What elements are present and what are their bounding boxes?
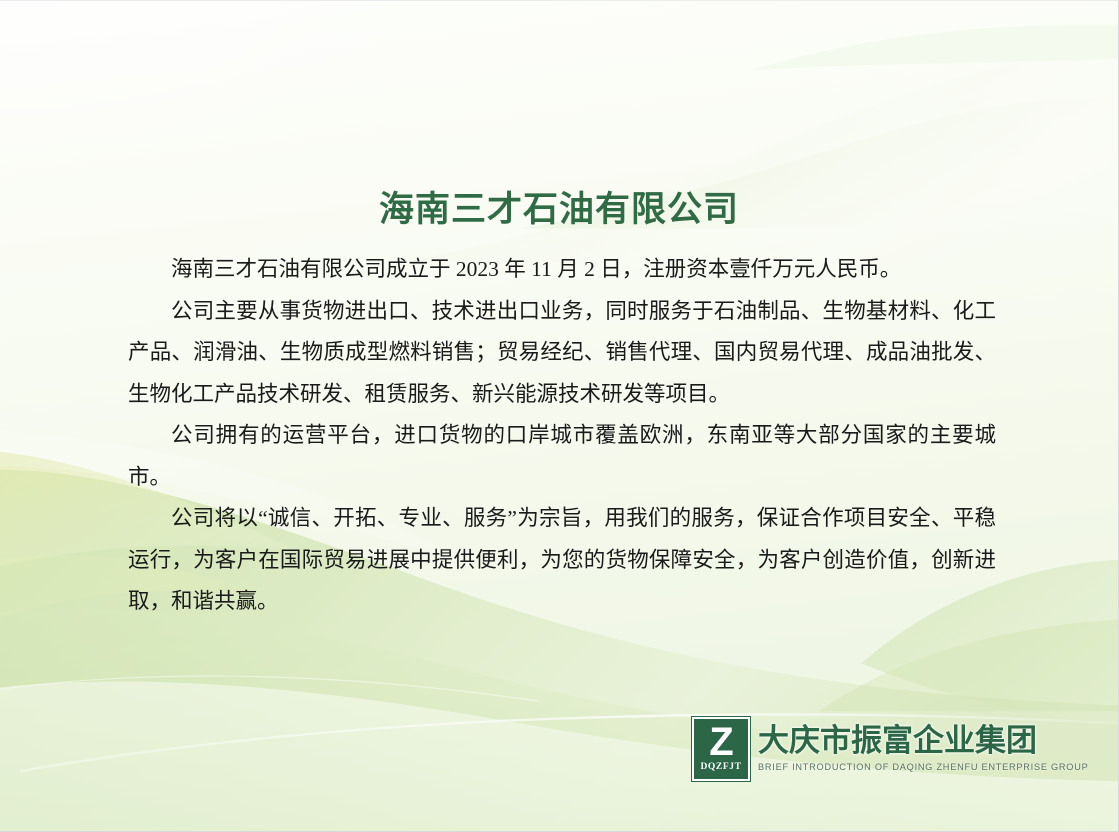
paragraph-4: 公司将以“诚信、开拓、专业、服务”为宗旨，用我们的服务，保证合作项目安全、平稳运… xyxy=(128,498,996,623)
body-text: 海南三才石油有限公司成立于 2023 年 11 月 2 日，注册资本壹仟万元人民… xyxy=(128,249,996,623)
logo-company-cn: 大庆市振富企业集团 xyxy=(758,724,1088,758)
logo-mark-icon: Z DQZFJT xyxy=(692,717,750,781)
slide-canvas: 海南三才石油有限公司 海南三才石油有限公司成立于 2023 年 11 月 2 日… xyxy=(0,0,1119,832)
page-title: 海南三才石油有限公司 xyxy=(0,181,1118,232)
logo-abbrev: DQZFJT xyxy=(700,762,741,773)
paragraph-3: 公司拥有的运营平台，进口货物的口岸城市覆盖欧洲，东南亚等大部分国家的主要城市。 xyxy=(128,415,996,498)
company-logo: Z DQZFJT 大庆市振富企业集团 BRIEF INTRODUCTION OF… xyxy=(692,717,1088,781)
paragraph-1: 海南三才石油有限公司成立于 2023 年 11 月 2 日，注册资本壹仟万元人民… xyxy=(128,249,996,291)
logo-letter-z: Z xyxy=(709,722,732,762)
paragraph-2: 公司主要从事货物进出口、技术进出口业务，同时服务于石油制品、生物基材料、化工产品… xyxy=(128,291,996,416)
logo-company-en: BRIEF INTRODUCTION OF DAQING ZHENFU ENTE… xyxy=(758,760,1088,774)
logo-wordmark: 大庆市振富企业集团 BRIEF INTRODUCTION OF DAQING Z… xyxy=(758,717,1088,774)
